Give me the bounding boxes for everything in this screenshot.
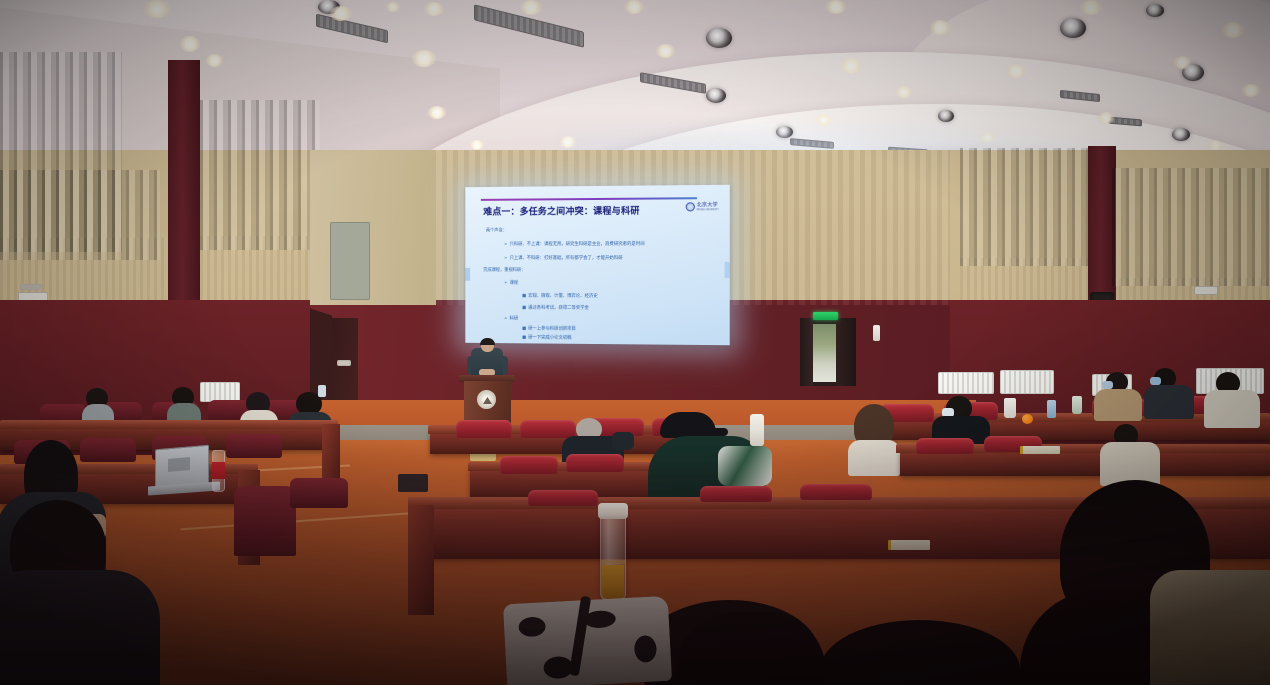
ceiling-downlight bbox=[826, 0, 846, 14]
bullet-text: 科研 bbox=[510, 316, 519, 321]
projection-screen: 难点一：多任务之间冲突：课程与科研 北京大学 PEKING UNIVERSITY… bbox=[465, 185, 729, 345]
hvac-vent bbox=[316, 14, 388, 44]
slide-subbullet: ■通过各科考试，获得二等奖学金 bbox=[522, 304, 589, 310]
slide-bullet: ➢科研 bbox=[504, 315, 518, 321]
face-mask bbox=[1102, 381, 1113, 389]
water-bottle-near bbox=[600, 510, 626, 600]
slide-bullet: ➢课程 bbox=[504, 280, 518, 286]
bullet-text: 研一上参与科研创新项目 bbox=[528, 326, 576, 331]
chair[interactable] bbox=[566, 454, 624, 472]
person-body bbox=[1094, 389, 1142, 421]
exit-door-leaf-left[interactable] bbox=[800, 318, 813, 386]
stage-wall-panel-left bbox=[310, 150, 436, 305]
ceiling-downlight bbox=[206, 54, 223, 67]
person-body bbox=[0, 570, 160, 685]
lecture-hall-photo: 难点一：多任务之间冲突：课程与科研 北京大学 PEKING UNIVERSITY… bbox=[0, 0, 1270, 685]
person-body bbox=[1144, 385, 1194, 419]
bullet-text: 通过各科考试，获得二等奖学金 bbox=[528, 305, 589, 310]
chair[interactable] bbox=[456, 420, 512, 438]
slide-subhead: 完成课程，重视科研： bbox=[483, 267, 525, 273]
wall-sensor bbox=[20, 284, 42, 290]
university-seal-icon bbox=[686, 203, 695, 212]
stage-wall-switch[interactable] bbox=[337, 360, 351, 366]
slide-bullet: ➢只科研、不上课：课程无用，研究生科研是主业，浪费研究者的是时间 bbox=[504, 241, 645, 247]
person-coat bbox=[1150, 570, 1270, 685]
bullet-text: 研一下完成小论文初稿 bbox=[528, 336, 571, 341]
slide-subbullet: ■研一下完成小论文初稿 bbox=[522, 335, 571, 341]
bullet-marker: ➢ bbox=[504, 316, 508, 321]
wall-panel-right-1 bbox=[960, 258, 1095, 306]
water-bottle-label bbox=[212, 462, 225, 479]
ceiling-downlight bbox=[330, 6, 352, 21]
curtain-left-2 bbox=[200, 100, 320, 250]
stage-wall-access-panel bbox=[330, 222, 370, 300]
chair[interactable] bbox=[916, 438, 974, 454]
ceiling-downlight bbox=[470, 140, 484, 150]
face-mask bbox=[1150, 377, 1161, 385]
ceiling-downlight bbox=[144, 0, 170, 18]
screen-edge-glare-left bbox=[465, 268, 470, 281]
bullet-marker: ➢ bbox=[504, 243, 508, 248]
slide-logo-subtext: PEKING UNIVERSITY bbox=[697, 208, 719, 211]
water-bottle bbox=[1047, 400, 1056, 418]
thermos-bottle bbox=[750, 414, 764, 446]
ceiling-downlight bbox=[412, 50, 436, 67]
slide-bullet: ➢只上课、不科研：打好基础，所有都学会了，才能开始科研 bbox=[504, 255, 623, 261]
chair[interactable] bbox=[800, 484, 872, 500]
ceiling-downlight bbox=[520, 0, 542, 15]
exit-door-leaf-right[interactable] bbox=[836, 318, 856, 386]
curtain-right-1 bbox=[960, 148, 1095, 266]
orange-fruit bbox=[1022, 414, 1033, 424]
chair[interactable] bbox=[234, 486, 296, 556]
stage-monitor-speaker bbox=[398, 474, 428, 492]
bottle-cap bbox=[598, 503, 628, 519]
chair[interactable] bbox=[500, 456, 558, 474]
bullet-text: 只科研、不上课：课程无用，研究生科研是主业，浪费研究者的是时间 bbox=[510, 242, 645, 247]
person-body bbox=[848, 440, 900, 476]
bullet-text: 课程 bbox=[510, 281, 519, 286]
slide-subbullet: ■研一上参与科研创新项目 bbox=[522, 325, 576, 331]
notebook bbox=[1020, 446, 1060, 454]
floor-cable-cover bbox=[470, 453, 496, 461]
presenter-hair bbox=[480, 338, 495, 345]
notebook bbox=[888, 540, 930, 550]
radiator bbox=[938, 372, 994, 394]
radiator bbox=[200, 382, 240, 402]
person-scarf bbox=[718, 446, 772, 486]
desk-surface bbox=[0, 420, 338, 429]
ceiling-spot-fixture bbox=[706, 88, 726, 103]
wall-pillar-left bbox=[168, 60, 200, 310]
bullet-text: 只上课、不科研：打好基础，所有都学会了，才能开始科研 bbox=[510, 256, 623, 261]
ceiling-downlight bbox=[386, 2, 400, 12]
podium-university-emblem-icon bbox=[477, 390, 496, 409]
paper-cup bbox=[1004, 398, 1016, 418]
ceiling-downlight bbox=[624, 0, 644, 14]
bottle-band bbox=[601, 560, 625, 564]
ceiling-downlight bbox=[1006, 64, 1026, 78]
screen-edge-glare-right bbox=[725, 262, 730, 278]
ceiling-downlight bbox=[1174, 56, 1191, 69]
desk-end-panel bbox=[408, 505, 434, 615]
ceiling-downlight bbox=[840, 58, 862, 74]
chair[interactable] bbox=[700, 486, 772, 502]
ceiling-downlight bbox=[1080, 0, 1102, 15]
exit-sign bbox=[813, 312, 838, 320]
ceiling-downlight bbox=[1222, 22, 1244, 38]
ceiling-spot-fixture bbox=[1060, 18, 1086, 38]
radiator bbox=[1000, 370, 1054, 394]
bullet-marker: ➢ bbox=[504, 256, 508, 261]
bullet-marker: ➢ bbox=[504, 281, 508, 286]
ceiling-spot-fixture bbox=[1146, 4, 1164, 17]
bullet-marker: ■ bbox=[522, 336, 526, 341]
bottle-liquid bbox=[602, 565, 624, 599]
ceiling-downlight bbox=[428, 106, 446, 119]
bullet-marker: ■ bbox=[522, 305, 526, 310]
paper-cup bbox=[1072, 396, 1082, 414]
exit-door-opening bbox=[812, 324, 836, 382]
person-body bbox=[1204, 390, 1260, 428]
slide-title: 难点一：多任务之间冲突：课程与科研 bbox=[483, 203, 710, 218]
wall-sign-right bbox=[1194, 286, 1218, 295]
slide-accent-line bbox=[481, 197, 697, 201]
ceiling-downlight bbox=[896, 86, 912, 98]
chair[interactable] bbox=[226, 434, 282, 458]
slide-subbullet: ■宏观、微观、计量、博弈论、经济史 bbox=[522, 292, 598, 298]
ceiling-downlight bbox=[656, 44, 675, 58]
ceiling-downlight bbox=[424, 2, 444, 16]
slide-intro-line: 两个声音： bbox=[486, 227, 507, 233]
laptop-logo bbox=[168, 457, 190, 472]
bullet-marker: ■ bbox=[522, 326, 526, 331]
chair[interactable] bbox=[290, 478, 348, 508]
curtain-right-2 bbox=[1112, 168, 1270, 286]
chair[interactable] bbox=[80, 438, 136, 462]
chair[interactable] bbox=[520, 420, 576, 438]
slide-university-logo: 北京大学 PEKING UNIVERSITY bbox=[686, 202, 719, 211]
cap-brim bbox=[704, 428, 728, 436]
chair[interactable] bbox=[528, 490, 598, 506]
ceiling-downlight bbox=[1242, 84, 1260, 97]
phone-screen[interactable] bbox=[318, 385, 326, 397]
ceiling-downlight bbox=[180, 36, 200, 52]
bullet-marker: ■ bbox=[522, 293, 526, 298]
desk-end-panel bbox=[322, 424, 340, 484]
ceiling-spot-fixture bbox=[706, 28, 732, 48]
bullet-text: 宏观、微观、计量、博弈论、经济史 bbox=[528, 293, 598, 298]
ceiling-downlight bbox=[930, 20, 950, 35]
wall-mounted-extinguisher bbox=[873, 325, 880, 341]
person-arm bbox=[612, 432, 634, 450]
